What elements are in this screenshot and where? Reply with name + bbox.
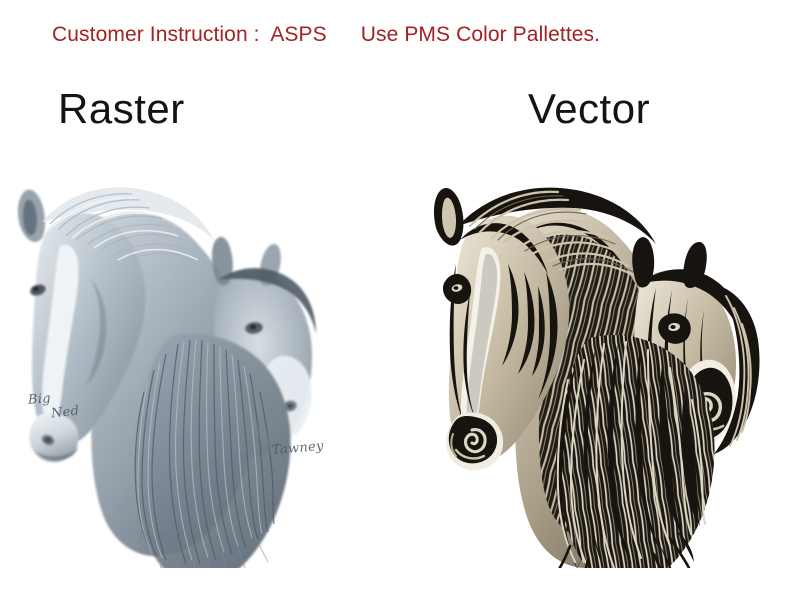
instruction-note: Use PMS Color Pallettes. [361,23,600,47]
caption-big-ned-line2: Ned [50,404,80,422]
vector-horse-illustration [420,168,790,568]
instruction-label: Customer Instruction : ASPS [52,23,327,47]
vector-artwork-panel [420,168,790,568]
vector-column-title: Vector [528,88,650,130]
caption-big-ned-line1: Big [28,391,52,408]
comparison-page: Customer Instruction : ASPS Use PMS Colo… [0,0,800,600]
raster-column-title: Raster [58,88,185,130]
customer-instruction-bar: Customer Instruction : ASPS Use PMS Colo… [0,18,800,52]
raster-artwork-panel [2,168,372,568]
raster-horse-drawing [2,168,372,568]
